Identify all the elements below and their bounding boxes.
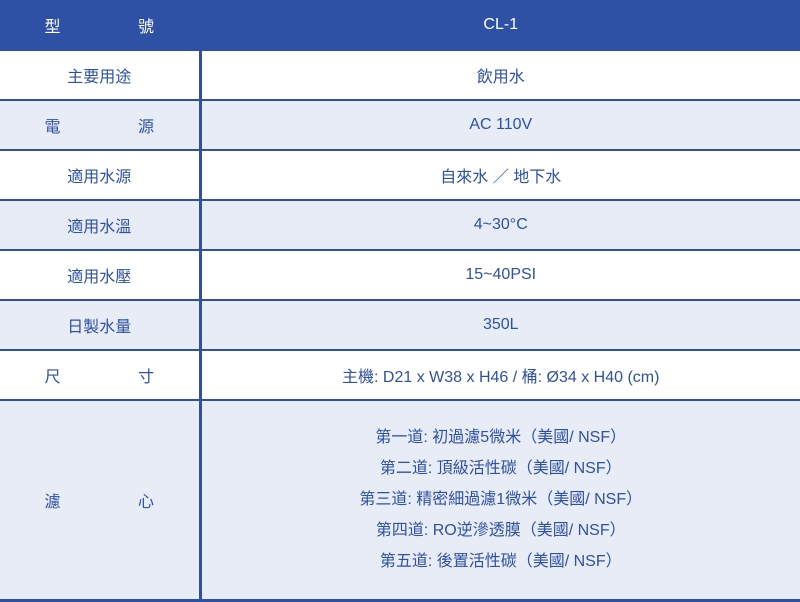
spec-label-power-text: 電 源 [29,113,169,137]
spec-label-dimensions-text: 尺 寸 [29,363,169,387]
spec-label-dimensions: 尺 寸 [0,350,200,400]
spec-value-daily-output: 350L [200,300,800,350]
spec-label-model: 型 號 [0,0,200,50]
spec-value-dimensions: 主機: D21 x W38 x H46 / 桶: Ø34 x H40 (cm) [200,350,800,400]
table-row-water-pressure: 適用水壓 15~40PSI [0,250,800,300]
table-row-daily-output: 日製水量 350L [0,300,800,350]
spec-label-water-temp: 適用水溫 [0,200,200,250]
spec-value-water-source: 自來水 ／ 地下水 [200,150,800,200]
filter-stage-4: 第四道: RO逆滲透膜（美國/ NSF） [212,515,791,546]
spec-value-water-pressure: 15~40PSI [200,250,800,300]
spec-label-water-source: 適用水源 [0,150,200,200]
table-row-power: 電 源 AC 110V [0,100,800,150]
product-spec-table: 型 號 CL-1 主要用途 飲用水 電 源 AC 110V 適用水源 自來水 ／… [0,0,800,602]
table-row-main-use: 主要用途 飲用水 [0,50,800,100]
spec-label-main-use: 主要用途 [0,50,200,100]
spec-label-filters-text: 濾 心 [29,488,169,512]
table-row-dimensions: 尺 寸 主機: D21 x W38 x H46 / 桶: Ø34 x H40 (… [0,350,800,400]
filter-stage-5: 第五道: 後置活性碳（美國/ NSF） [212,546,791,577]
spec-value-filters: 第一道: 初過濾5微米（美國/ NSF） 第二道: 頂級活性碳（美國/ NSF）… [200,400,800,600]
spec-value-main-use: 飲用水 [200,50,800,100]
table-row-filters: 濾 心 第一道: 初過濾5微米（美國/ NSF） 第二道: 頂級活性碳（美國/ … [0,400,800,600]
filter-stage-list: 第一道: 初過濾5微米（美國/ NSF） 第二道: 頂級活性碳（美國/ NSF）… [212,422,791,577]
table-row-model: 型 號 CL-1 [0,0,800,50]
spec-value-model: CL-1 [200,0,800,50]
table-row-water-source: 適用水源 自來水 ／ 地下水 [0,150,800,200]
filter-stage-1: 第一道: 初過濾5微米（美國/ NSF） [212,422,791,453]
spec-label-model-text: 型 號 [29,13,169,37]
spec-label-daily-output: 日製水量 [0,300,200,350]
spec-value-power: AC 110V [200,100,800,150]
spec-label-power: 電 源 [0,100,200,150]
filter-stage-2: 第二道: 頂級活性碳（美國/ NSF） [212,453,791,484]
spec-value-water-temp: 4~30°C [200,200,800,250]
spec-label-water-pressure: 適用水壓 [0,250,200,300]
filter-stage-3: 第三道: 精密細過濾1微米（美國/ NSF） [212,484,791,515]
spec-label-filters: 濾 心 [0,400,200,600]
table-row-water-temp: 適用水溫 4~30°C [0,200,800,250]
